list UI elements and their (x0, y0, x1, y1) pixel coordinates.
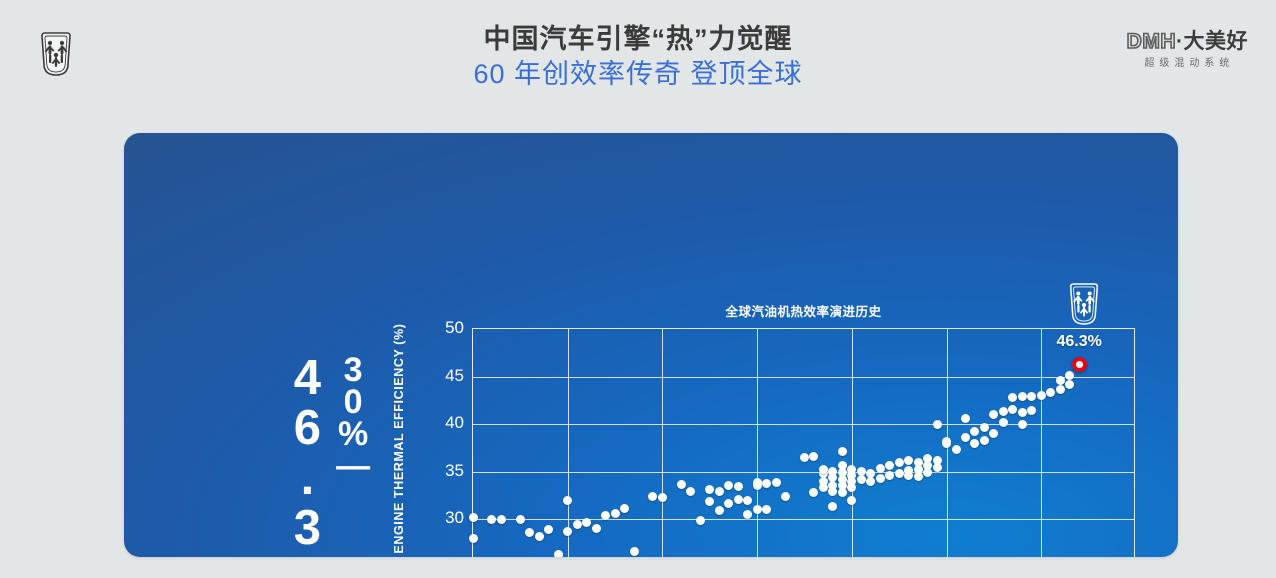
dmh-brand-logo: DMH·大美好 超级混动系统 (1127, 30, 1248, 72)
plot-area: 46.3% (472, 328, 1135, 557)
data-point (800, 453, 809, 462)
y-tick-label: 40 (428, 413, 464, 433)
data-point (980, 436, 989, 445)
y-axis-ticks: 20253035404550 (424, 328, 464, 557)
data-point (554, 550, 563, 557)
data-point (809, 488, 818, 497)
data-point (592, 524, 601, 533)
data-point (847, 496, 856, 505)
data-point (980, 423, 989, 432)
gridline-horizontal (473, 424, 1134, 425)
data-point (696, 516, 705, 525)
page-subtitle: 60 年创效率传奇 登顶全球 (0, 56, 1276, 92)
data-point (772, 478, 781, 487)
data-point (933, 463, 942, 472)
data-point (1018, 392, 1027, 401)
data-point (1008, 393, 1017, 402)
data-point (1037, 391, 1046, 400)
data-point (781, 492, 790, 501)
data-point (573, 520, 582, 529)
data-point (895, 469, 904, 478)
data-point (648, 492, 657, 501)
data-point (753, 481, 762, 490)
gridline-vertical (757, 329, 758, 557)
dmh-logo-letters: DMH (1127, 30, 1176, 53)
data-point (885, 461, 894, 470)
data-point (762, 505, 771, 514)
y-tick-label: 25 (428, 556, 464, 558)
data-point (809, 452, 818, 461)
data-point (999, 418, 1008, 427)
data-point (1065, 380, 1074, 389)
data-point (762, 479, 771, 488)
data-point (904, 471, 913, 480)
gridline-horizontal (473, 377, 1134, 378)
data-point (819, 483, 828, 492)
data-point (885, 471, 894, 480)
title-block: 中国汽车引擎“热”力觉醒 60 年创效率传奇 登顶全球 (0, 22, 1276, 92)
data-point (970, 439, 979, 448)
data-point (989, 410, 998, 419)
data-point (1027, 392, 1036, 401)
data-point (686, 487, 695, 496)
data-point (544, 525, 553, 534)
data-point (1056, 376, 1065, 385)
data-point (753, 505, 762, 514)
data-point (715, 506, 724, 515)
data-point (819, 465, 828, 474)
data-point (989, 429, 998, 438)
data-point (601, 511, 610, 520)
dmh-logo-dot: · (1176, 30, 1184, 53)
page-header: 中国汽车引擎“热”力觉醒 60 年创效率传奇 登顶全球 DMH·大美好 超级混动… (0, 0, 1276, 112)
data-point (497, 515, 506, 524)
data-point (999, 407, 1008, 416)
y-tick-label: 50 (428, 318, 464, 338)
data-point (582, 518, 591, 527)
data-point (838, 447, 847, 456)
data-point (525, 528, 534, 537)
data-point (961, 433, 970, 442)
data-point (838, 488, 847, 497)
data-point (847, 483, 856, 492)
data-point (876, 464, 885, 473)
y-tick-label: 35 (428, 461, 464, 481)
data-point (895, 458, 904, 467)
data-point (469, 534, 478, 543)
gridline-horizontal (473, 472, 1134, 473)
chart-panel: 46.3% 30%— 全球汽油机热效率演进历 (124, 133, 1178, 557)
data-point (705, 497, 714, 506)
data-point (876, 474, 885, 483)
data-point (563, 496, 572, 505)
data-point (611, 509, 620, 518)
plot-wrapper: 全球汽油机热效率演进历史 MAXIMUM ENGINE THERMAL EFFI… (124, 133, 1178, 557)
data-point (620, 504, 629, 513)
data-point (914, 472, 923, 481)
dmh-logo-tagline: 超级混动系统 (1127, 56, 1248, 72)
data-point (1008, 405, 1017, 414)
gridline-vertical (568, 329, 569, 557)
data-point (677, 480, 686, 489)
dmh-logo-chinese: 大美好 (1184, 30, 1249, 53)
data-point (743, 496, 752, 505)
data-point (942, 439, 951, 448)
peak-value-label: 46.3% (1056, 333, 1101, 351)
data-point (1018, 420, 1027, 429)
data-point (487, 515, 496, 524)
data-point (1056, 385, 1065, 394)
data-point (1018, 408, 1027, 417)
y-tick-label: 30 (428, 508, 464, 528)
data-point (715, 487, 724, 496)
data-point (857, 475, 866, 484)
data-point (1027, 406, 1036, 415)
chart-title: 全球汽油机热效率演进历史 (472, 301, 1135, 320)
data-point (535, 532, 544, 541)
data-point (724, 481, 733, 490)
y-tick-label: 45 (428, 366, 464, 386)
gridline-horizontal (473, 519, 1134, 520)
data-point (828, 502, 837, 511)
y-axis-title: MAXIMUM ENGINE THERMAL EFFICIENCY (%) (388, 318, 410, 557)
data-point (970, 427, 979, 436)
data-point (952, 445, 961, 454)
gridline-vertical (1041, 329, 1042, 557)
page-title: 中国汽车引擎“热”力觉醒 (0, 22, 1276, 56)
data-point (516, 515, 525, 524)
dmh-logo-main-row: DMH·大美好 (1127, 30, 1248, 54)
data-point (828, 487, 837, 496)
data-point (961, 414, 970, 423)
gridline-vertical (852, 329, 853, 557)
data-point (866, 477, 875, 486)
data-point (1046, 388, 1055, 397)
data-point (724, 499, 733, 508)
data-point (734, 495, 743, 504)
data-point (734, 482, 743, 491)
data-point (904, 456, 913, 465)
gridline-vertical (662, 329, 663, 557)
data-point (933, 420, 942, 429)
data-point (563, 527, 572, 536)
data-point (923, 468, 932, 477)
data-point (630, 547, 639, 556)
data-point (743, 510, 752, 519)
data-point-highlighted (1072, 357, 1087, 372)
data-point (705, 485, 714, 494)
data-point (469, 513, 478, 522)
data-point (1065, 371, 1074, 380)
data-point (658, 493, 667, 502)
